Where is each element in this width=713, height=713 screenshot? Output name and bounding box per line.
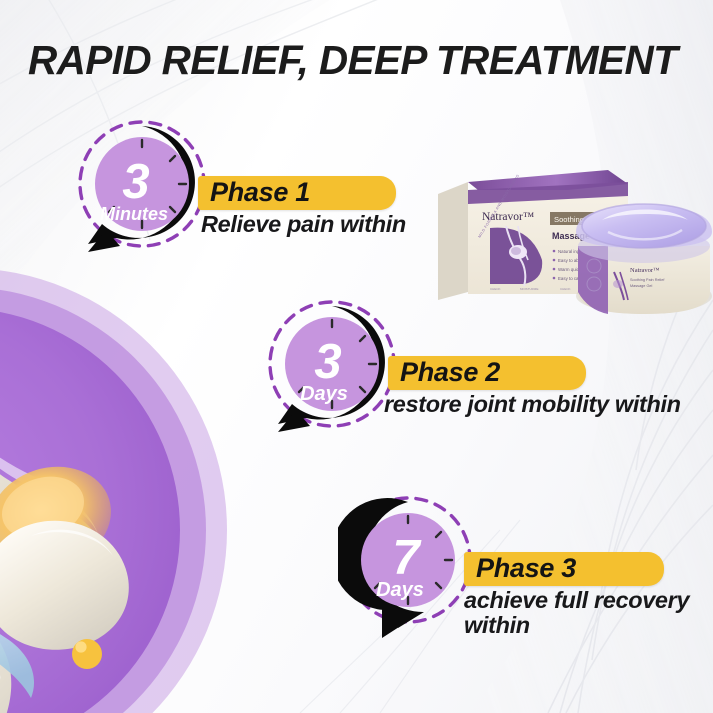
phase-1-banner: Phase 1 [198,176,396,210]
phase-3-banner: Phase 3 [464,552,664,586]
phase-3-description: achieve full recovery within [464,588,712,639]
svg-text:Soothing Pain Relief: Soothing Pain Relief [630,278,665,282]
phase-1-clock-unit: Minutes [100,204,168,224]
phase-1-clock-number: 3 [122,155,149,209]
phase-2-clock-number: 3 [314,335,341,389]
phase-3-clock-number: 7 [392,531,422,585]
svg-text:CHECK: CHECK [490,287,501,291]
phase-3-clock-unit: Days [376,579,424,601]
phase-2-banner-label: Phase 2 [400,357,500,388]
phase-2-clock-unit: Days [300,383,348,405]
svg-text:Natravor™: Natravor™ [630,267,660,274]
svg-text:MOISTURIZE: MOISTURIZE [520,287,539,291]
product-packaging-image: Natravor™ MILD FORMULA AND MOISTURIZING … [432,168,713,323]
phase-1-banner-label: Phase 1 [210,177,310,208]
page-title: RAPID RELIEF, DEEP TREATMENT [28,40,700,81]
phase-3-banner-label: Phase 3 [476,553,576,584]
phase-2-banner: Phase 2 [388,356,586,390]
advertisement-canvas: RAPID RELIEF, DEEP TREATMENT [0,0,713,713]
svg-text:CHECK: CHECK [560,287,571,291]
phase-1-description: Relieve pain within [201,212,531,237]
svg-text:Massage Gel: Massage Gel [630,284,653,288]
phase-2-description: restore joint mobility within [384,392,713,417]
